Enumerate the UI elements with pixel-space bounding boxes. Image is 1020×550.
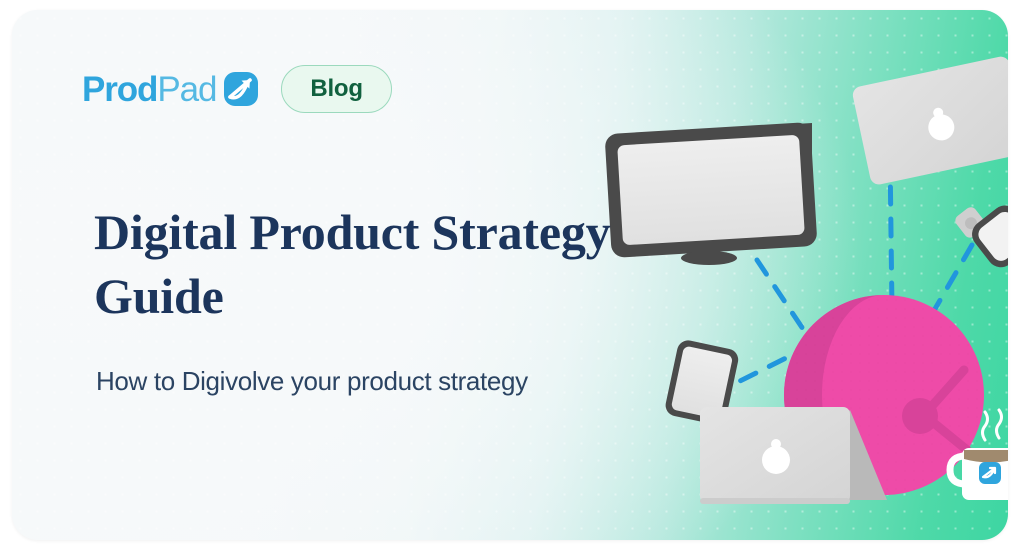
blog-badge[interactable]: Blog [281,65,392,113]
logo-wordmark: ProdPad [82,72,216,107]
page-title-line-2: Guide [94,268,224,324]
logo-wordmark-light: Pad [157,70,216,109]
prodpad-rocket-icon [223,71,259,107]
page-title: Digital Product Strategy Guide [94,200,654,328]
hero-card: ProdPad Blog Digital Product Strategy Gu… [12,10,1008,540]
card-header: ProdPad Blog [82,65,392,113]
page-title-line-1: Digital Product Strategy [94,204,610,260]
blog-badge-label: Blog [310,75,363,103]
logo-wordmark-bold: Prod [82,70,157,109]
page-subtitle: How to Digivolve your product strategy [96,366,654,397]
hero-copy: Digital Product Strategy Guide How to Di… [94,200,654,397]
smartwatch [953,186,1008,275]
laptop-top-right [851,49,1008,186]
prodpad-logo[interactable]: ProdPad [82,71,259,107]
